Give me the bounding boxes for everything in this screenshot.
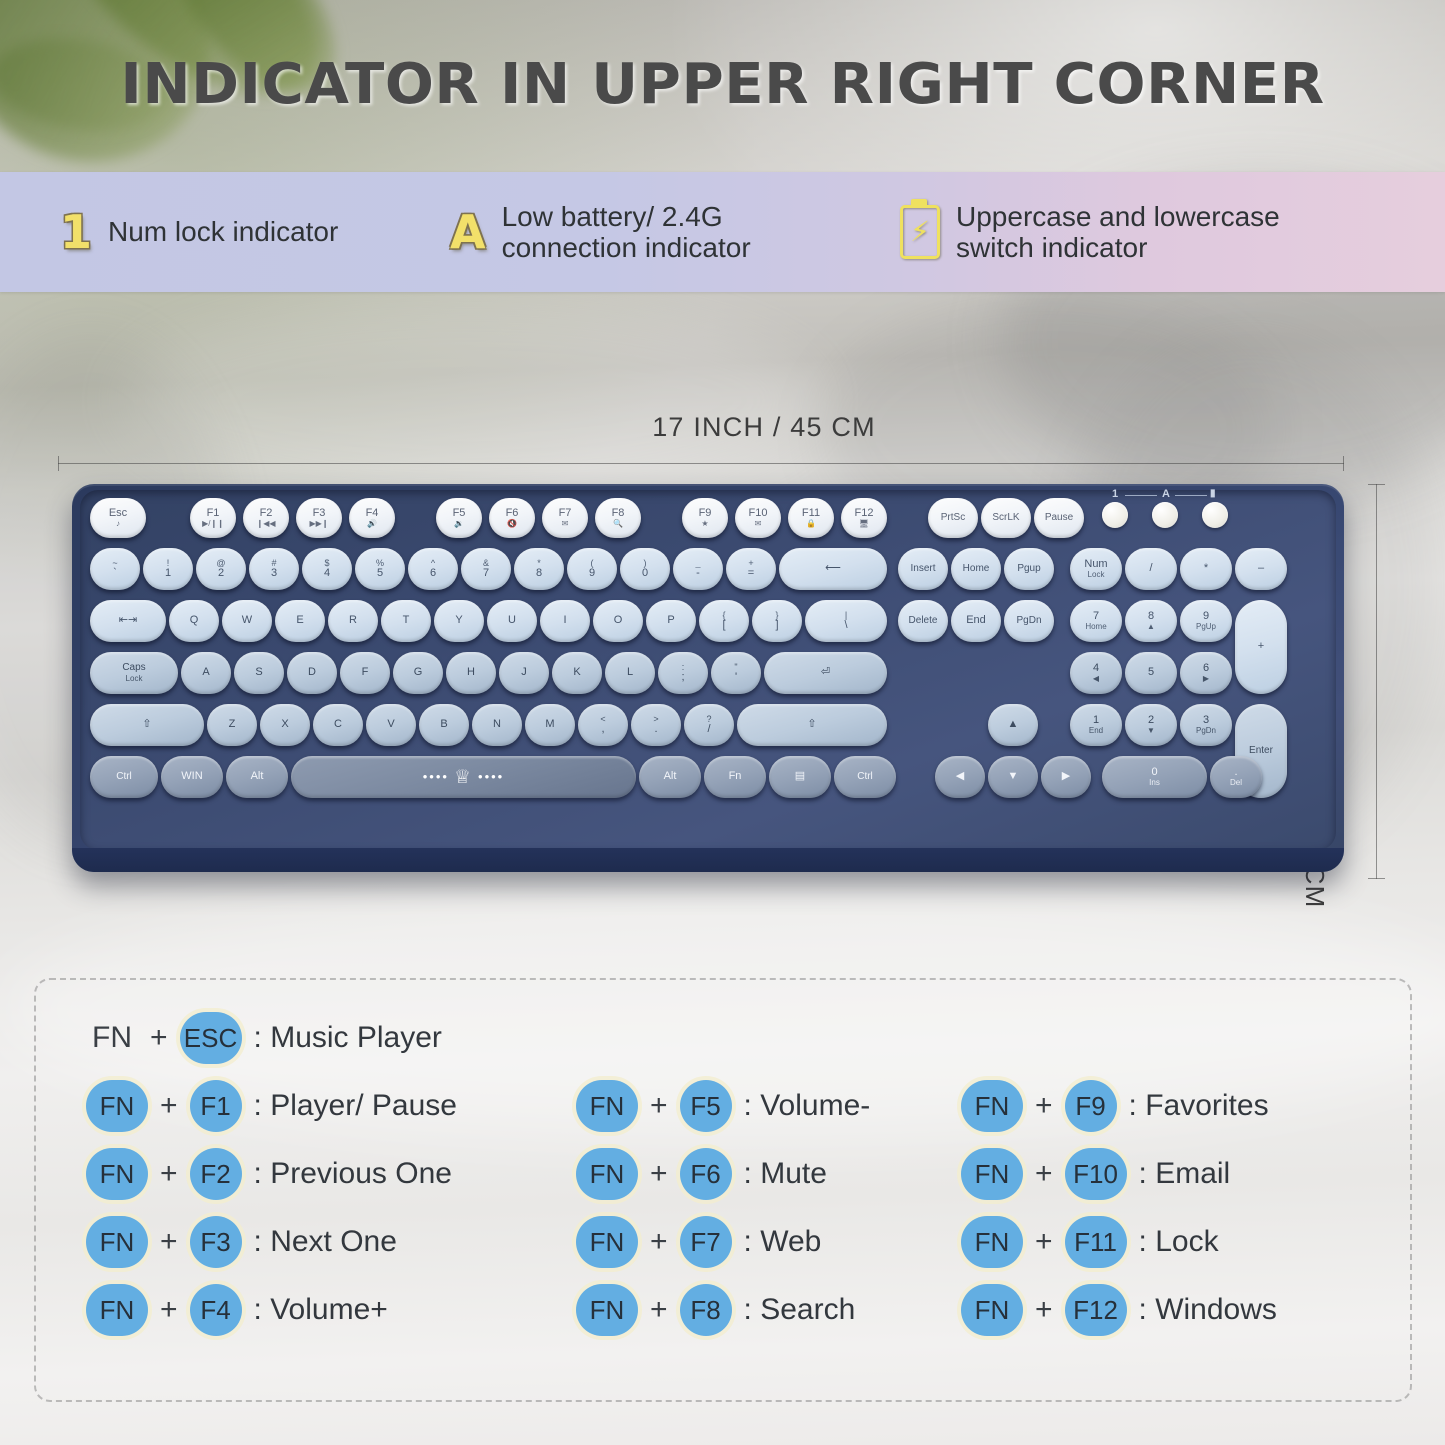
key-legend-primary: M	[545, 719, 554, 731]
key-legend-primary: 6	[430, 568, 436, 580]
key-qwerty-r-4[interactable]: R	[328, 600, 378, 642]
key-function-f11-11[interactable]: F11🔒	[788, 498, 834, 538]
width-dimension-line	[58, 463, 1344, 464]
key-shift-c-3[interactable]: C	[313, 704, 363, 746]
key-legend-secondary: |	[845, 611, 847, 620]
key-bottom-key-12[interactable]: .Del	[1210, 756, 1262, 798]
key-function-pause-15[interactable]: Pause	[1034, 498, 1084, 538]
key-shift-key-10[interactable]: ?/	[684, 704, 734, 746]
shortcut-modifier-badge: FN	[86, 1284, 148, 1336]
shortcut-description: : Next One	[254, 1225, 397, 1259]
key-bottom-alt-2[interactable]: Alt	[226, 756, 288, 798]
shortcut-description: : Lock	[1139, 1225, 1219, 1259]
fn-shortcuts-panel: FN+ESC: Music PlayerFN+F1: Player/ Pause…	[34, 978, 1412, 1402]
shortcut-row-f8: FN+F8: Search	[576, 1284, 855, 1336]
key-qwerty-8-18[interactable]: 8▲	[1125, 600, 1177, 642]
legend-text-battery: Low battery/ 2.4G connection indicator	[502, 201, 751, 264]
key-legend-primary: W	[242, 615, 252, 627]
key-qwerty-p-10[interactable]: P	[646, 600, 696, 642]
key-legend-primary: PgDn	[1016, 616, 1041, 627]
key-legend-primary: 1	[1093, 715, 1099, 727]
key-legend-primary: Ctrl	[857, 772, 873, 783]
battery-bolt-icon: ⚡	[900, 205, 940, 259]
key-function-scrlk-14[interactable]: ScrLK	[981, 498, 1031, 538]
key-function-f4-4[interactable]: F4🔊	[349, 498, 395, 538]
key-number-pgup-16[interactable]: Pgup	[1004, 548, 1054, 590]
key-number-key-11[interactable]: _-	[673, 548, 723, 590]
key-legend-primary: 9	[589, 568, 595, 580]
legend-item-case: ⚡ Uppercase and lowercase switch indicat…	[900, 201, 1280, 264]
key-qwerty-key-11[interactable]: {[	[699, 600, 749, 642]
key-legend-sub: PgDn	[1196, 727, 1216, 735]
shortcut-modifier-badge: FN	[86, 1021, 138, 1055]
key-qwerty-e-3[interactable]: E	[275, 600, 325, 642]
key-legend-primary: End	[966, 615, 986, 627]
key-legend-primary: 8	[1148, 611, 1154, 623]
key-legend-sub: ▲	[1147, 623, 1155, 631]
key-home-caps-0[interactable]: CapsLock	[90, 652, 178, 694]
shortcut-key-badge: F1	[190, 1080, 242, 1132]
key-function-esc-0[interactable]: Esc♪	[90, 498, 146, 538]
key-legend-primary: '	[735, 672, 737, 684]
key-bottom-ctrl-0[interactable]: Ctrl	[90, 756, 158, 798]
key-bottom-ctrl-7[interactable]: Ctrl	[834, 756, 896, 798]
key-home-j-7[interactable]: J	[499, 652, 549, 694]
key-qwerty-key-13[interactable]: |\	[805, 600, 887, 642]
keyboard-product-image: Esc♪F1▶/❙❙F2❙◀◀F3▶▶❙F4🔊F5🔉F6🔇F7✉F8🔍F9★F1…	[72, 484, 1344, 872]
key-home-key-12[interactable]: ⏎	[764, 652, 887, 694]
key-legend-sub: Del	[1230, 779, 1242, 787]
legend-text-numlock: Num lock indicator	[108, 216, 338, 247]
shortcut-modifier-badge: FN	[961, 1216, 1023, 1268]
key-legend-primary: `	[113, 568, 117, 580]
key-legend-secondary: >	[653, 715, 658, 724]
key-shift-z-1[interactable]: Z	[207, 704, 257, 746]
key-legend-secondary: (	[591, 559, 594, 568]
shortcut-description: : Previous One	[254, 1157, 452, 1191]
key-qwerty-u-7[interactable]: U	[487, 600, 537, 642]
key-legend-primary: B	[440, 719, 447, 731]
key-home-key-10[interactable]: :;	[658, 652, 708, 694]
key-bottom-key-9[interactable]: ▼	[988, 756, 1038, 798]
key-shift-key-9[interactable]: >.	[631, 704, 681, 746]
key-legend-primary: Alt	[664, 771, 677, 783]
key-function-f7-7[interactable]: F7✉	[542, 498, 588, 538]
key-legend-primary: ▤	[795, 771, 805, 783]
key-legend-primary: 5	[1148, 667, 1154, 679]
shortcut-row-f2: FN+F2: Previous One	[86, 1148, 452, 1200]
key-legend-primary: L	[627, 667, 633, 679]
shortcut-key-badge: F3	[190, 1216, 242, 1268]
key-legend-primary: H	[467, 667, 475, 679]
key-legend-primary: ;	[681, 672, 684, 684]
keyboard-base-lip	[72, 848, 1344, 872]
key-legend-primary: *	[1204, 563, 1208, 575]
key-number-key-20[interactable]: –	[1235, 548, 1287, 590]
key-legend-primary: 4	[1093, 663, 1099, 675]
key-legend-primary: 9	[1203, 611, 1209, 623]
key-legend-primary: Pgup	[1017, 564, 1040, 575]
key-function-f5-5[interactable]: F5🔉	[436, 498, 482, 538]
key-legend-sub: ▶/❙❙	[202, 520, 224, 528]
key-legend-primary: ⇤⇥	[119, 615, 137, 627]
key-legend-primary: 2	[218, 568, 224, 580]
key-legend-primary: F10	[749, 508, 768, 520]
key-legend-primary: ▼	[1008, 771, 1019, 783]
key-function-f12-12[interactable]: F12🖥	[841, 498, 887, 538]
key-legend-primary: /	[707, 724, 710, 736]
letter-a-icon: A	[450, 209, 486, 255]
key-legend-primary: K	[573, 667, 580, 679]
shortcut-key-badge: F8	[680, 1284, 732, 1336]
key-function-f2-2[interactable]: F2❙◀◀	[243, 498, 289, 538]
key-legend-primary: +	[1258, 641, 1264, 653]
key-legend-primary: 2	[1148, 715, 1154, 727]
key-shift-key-11[interactable]: ⇧	[737, 704, 887, 746]
key-legend-sub: ★	[701, 520, 708, 528]
key-number-key-19[interactable]: *	[1180, 548, 1232, 590]
key-legend-sub: 🔒	[806, 520, 816, 528]
key-legend-primary: 4	[324, 568, 330, 580]
shortcut-key-badge: F11	[1065, 1216, 1127, 1268]
led-numlock	[1102, 502, 1128, 528]
key-legend-secondary: ^	[431, 559, 435, 568]
shortcut-plus-sign: +	[650, 1157, 668, 1191]
shortcut-row-f9: FN+F9: Favorites	[961, 1080, 1269, 1132]
indicator-legend-band: 1 Num lock indicator A Low battery/ 2.4G…	[0, 172, 1445, 292]
shortcut-description: : Windows	[1139, 1293, 1277, 1327]
key-qwerty-7-17[interactable]: 7Home	[1070, 600, 1122, 642]
key-legend-primary: PrtSc	[941, 513, 965, 524]
legend-battery-line2: connection indicator	[502, 232, 751, 263]
shortcut-modifier-badge: FN	[961, 1148, 1023, 1200]
key-function-prtsc-13[interactable]: PrtSc	[928, 498, 978, 538]
key-home-s-2[interactable]: S	[234, 652, 284, 694]
key-legend-primary: 0	[1151, 767, 1157, 779]
key-home-h-6[interactable]: H	[446, 652, 496, 694]
key-legend-primary: 6	[1203, 663, 1209, 675]
key-legend-secondary: $	[324, 559, 329, 568]
key-shift-b-5[interactable]: B	[419, 704, 469, 746]
key-legend-primary: \	[844, 620, 847, 632]
key-shift-1-13[interactable]: 1End	[1070, 704, 1122, 746]
key-qwerty-o-9[interactable]: O	[593, 600, 643, 642]
key-legend-secondary: ~	[112, 559, 117, 568]
key-number-key-13[interactable]: ⟵	[779, 548, 887, 590]
key-legend-primary: D	[308, 667, 316, 679]
key-number-6-6[interactable]: ^6	[408, 548, 458, 590]
shortcut-description: : Web	[744, 1225, 822, 1259]
key-legend-secondary: @	[216, 559, 225, 568]
shortcut-key-badge: F10	[1065, 1148, 1127, 1200]
key-bottom-win-1[interactable]: WIN	[161, 756, 223, 798]
key-bottom-fn-5[interactable]: Fn	[704, 756, 766, 798]
shortcut-plus-sign: +	[650, 1293, 668, 1327]
shortcut-modifier-badge: FN	[576, 1216, 638, 1268]
key-legend-primary: Y	[455, 615, 462, 627]
key-legend-sub: ▼	[1147, 727, 1155, 735]
legend-case-line1: Uppercase and lowercase	[956, 201, 1280, 232]
key-number-3-3[interactable]: #3	[249, 548, 299, 590]
key-legend-secondary: "	[734, 663, 737, 672]
key-legend-primary: 7	[1093, 611, 1099, 623]
key-qwerty-y-6[interactable]: Y	[434, 600, 484, 642]
key-legend-secondary: )	[644, 559, 647, 568]
key-bottom-alt-4[interactable]: Alt	[639, 756, 701, 798]
key-legend-primary: F8	[612, 508, 625, 520]
shortcut-description: : Search	[744, 1293, 856, 1327]
key-legend-sub: ✉	[755, 520, 762, 528]
key-home-6-15[interactable]: 6▶	[1180, 652, 1232, 694]
key-bottom-key-10[interactable]: ▶	[1041, 756, 1091, 798]
shortcut-plus-sign: +	[150, 1021, 168, 1055]
shortcut-plus-sign: +	[1035, 1157, 1053, 1191]
key-legend-secondary: +	[748, 559, 753, 568]
shortcut-modifier-badge: FN	[86, 1148, 148, 1200]
key-legend-primary: ▲	[1008, 719, 1019, 731]
key-legend-sub: 🖥	[859, 520, 869, 528]
key-number-7-7[interactable]: &7	[461, 548, 511, 590]
key-bottom-key-6[interactable]: ▤	[769, 756, 831, 798]
key-qwerty-pgdn-16[interactable]: PgDn	[1004, 600, 1054, 642]
key-legend-primary: ,	[601, 724, 604, 736]
key-function-f6-6[interactable]: F6🔇	[489, 498, 535, 538]
key-legend-primary: Enter	[1249, 746, 1273, 757]
key-legend-primary: F9	[699, 508, 712, 520]
key-legend-primary: 1	[165, 568, 171, 580]
key-legend-primary: 0	[642, 568, 648, 580]
key-legend-primary: -	[696, 568, 700, 580]
key-legend-primary: .	[654, 724, 657, 736]
key-legend-sub: ▶	[1203, 675, 1209, 683]
key-legend-primary: F1	[207, 508, 220, 520]
key-legend-primary: ◀	[956, 771, 964, 783]
key-legend-sub: ◀	[1093, 675, 1099, 683]
key-legend-primary: =	[748, 568, 754, 580]
key-legend-secondary: %	[376, 559, 384, 568]
key-legend-primary: U	[508, 615, 516, 627]
key-legend-primary: .	[1234, 767, 1237, 779]
key-function-f10-10[interactable]: F10✉	[735, 498, 781, 538]
key-legend-primary: F2	[260, 508, 273, 520]
key-legend-primary: Home	[963, 564, 990, 575]
shortcut-plus-sign: +	[1035, 1089, 1053, 1123]
key-qwerty-i-8[interactable]: I	[540, 600, 590, 642]
width-dimension-label: 17 INCH / 45 CM	[564, 412, 964, 443]
key-legend-sub: 🔉	[454, 520, 464, 528]
key-home-4-13[interactable]: 4◀	[1070, 652, 1122, 694]
key-legend-secondary: :	[682, 663, 685, 672]
key-number-key-12[interactable]: +=	[726, 548, 776, 590]
key-legend-primary: F6	[506, 508, 519, 520]
shortcut-row-f5: FN+F5: Volume-	[576, 1080, 870, 1132]
led-mark-numlock: 1	[1112, 488, 1118, 500]
shortcut-key-badge: F4	[190, 1284, 242, 1336]
key-qwerty-end-15[interactable]: End	[951, 600, 1001, 642]
key-legend-primary: /	[1149, 563, 1152, 575]
numlock-digit-icon: 1	[60, 209, 92, 255]
key-legend-sub: 🔊	[367, 520, 377, 528]
key-legend-primary: G	[414, 667, 423, 679]
led-dash-2	[1175, 495, 1207, 496]
shortcut-modifier-badge: FN	[86, 1216, 148, 1268]
key-qwerty-w-2[interactable]: W	[222, 600, 272, 642]
key-legend-secondary: }	[775, 611, 778, 620]
key-number-insert-14[interactable]: Insert	[898, 548, 948, 590]
key-shift-n-6[interactable]: N	[472, 704, 522, 746]
key-number-2-2[interactable]: @2	[196, 548, 246, 590]
shortcut-plus-sign: +	[160, 1293, 178, 1327]
key-legend-primary: ⇧	[142, 719, 151, 731]
key-legend-primary: ⇧	[807, 719, 816, 731]
key-legend-primary: F4	[366, 508, 379, 520]
key-number-1-1[interactable]: !1	[143, 548, 193, 590]
key-shift-x-2[interactable]: X	[260, 704, 310, 746]
key-number-8-8[interactable]: *8	[514, 548, 564, 590]
shortcut-description: : Player/ Pause	[254, 1089, 457, 1123]
key-home-g-5[interactable]: G	[393, 652, 443, 694]
shortcut-description: : Mute	[744, 1157, 827, 1191]
key-shift-key-12[interactable]: ▲	[988, 704, 1038, 746]
key-legend-primary: A	[202, 667, 209, 679]
shortcut-modifier-badge: FN	[576, 1284, 638, 1336]
key-legend-sub: ✉	[562, 520, 569, 528]
legend-battery-line1: Low battery/ 2.4G	[502, 201, 723, 232]
shortcut-description: : Favorites	[1129, 1089, 1269, 1123]
shortcut-modifier-badge: FN	[576, 1080, 638, 1132]
key-home-l-9[interactable]: L	[605, 652, 655, 694]
key-legend-primary: –	[1258, 563, 1264, 575]
key-home-f-4[interactable]: F	[340, 652, 390, 694]
key-legend-primary: Ctrl	[116, 772, 132, 783]
key-legend-primary: Num	[1084, 559, 1107, 571]
key-legend-secondary: #	[271, 559, 276, 568]
key-shift-2-14[interactable]: 2▼	[1125, 704, 1177, 746]
key-legend-primary: 5	[377, 568, 383, 580]
led-dash-1	[1125, 495, 1157, 496]
key-legend-primary: ScrLK	[992, 513, 1019, 524]
key-qwerty-delete-14[interactable]: Delete	[898, 600, 948, 642]
shortcut-row-f7: FN+F7: Web	[576, 1216, 821, 1268]
shortcut-modifier-badge: FN	[961, 1080, 1023, 1132]
key-shift-m-7[interactable]: M	[525, 704, 575, 746]
key-legend-primary: Z	[229, 719, 236, 731]
key-spacebar[interactable]: ••••♕••••	[291, 756, 636, 798]
key-qwerty-q-1[interactable]: Q	[169, 600, 219, 642]
key-shift-3-15[interactable]: 3PgDn	[1180, 704, 1232, 746]
shortcut-key-badge: F9	[1065, 1080, 1117, 1132]
key-function-f1-1[interactable]: F1▶/❙❙	[190, 498, 236, 538]
key-bottom-key-8[interactable]: ◀	[935, 756, 985, 798]
shortcut-key-badge: F6	[680, 1148, 732, 1200]
key-legend-primary: F3	[313, 508, 326, 520]
key-home-d-3[interactable]: D	[287, 652, 337, 694]
key-legend-primary: Alt	[251, 771, 264, 783]
shortcut-row-f11: FN+F11: Lock	[961, 1216, 1219, 1268]
led-capslock	[1152, 502, 1178, 528]
key-legend-secondary: &	[483, 559, 489, 568]
shortcut-row-f3: FN+F3: Next One	[86, 1216, 397, 1268]
key-qwerty-key-12[interactable]: }]	[752, 600, 802, 642]
led-mark-battery-icon: ▮	[1210, 488, 1216, 499]
key-number-home-15[interactable]: Home	[951, 548, 1001, 590]
shortcut-plus-sign: +	[650, 1089, 668, 1123]
key-legend-secondary: <	[600, 715, 605, 724]
key-legend-sub: Ins	[1149, 779, 1160, 787]
key-legend-primary: R	[349, 615, 357, 627]
shortcut-description: : Volume+	[254, 1293, 388, 1327]
legend-item-battery: A Low battery/ 2.4G connection indicator	[450, 201, 890, 264]
key-legend-primary: Delete	[909, 616, 938, 627]
key-legend-sub: 🔍	[613, 520, 623, 528]
key-legend-primary: F5	[453, 508, 466, 520]
key-legend-sub: ♪	[116, 520, 120, 528]
key-qwerty-t-5[interactable]: T	[381, 600, 431, 642]
key-legend-primary: V	[387, 719, 394, 731]
keyboard-deck: Esc♪F1▶/❙❙F2❙◀◀F3▶▶❙F4🔊F5🔉F6🔇F7✉F8🔍F9★F1…	[80, 490, 1336, 850]
key-shift-key-0[interactable]: ⇧	[90, 704, 204, 746]
key-legend-secondary: ?	[706, 715, 711, 724]
key-shift-key-8[interactable]: <,	[578, 704, 628, 746]
shortcut-plus-sign: +	[160, 1089, 178, 1123]
shortcut-plus-sign: +	[1035, 1225, 1053, 1259]
key-number-5-5[interactable]: %5	[355, 548, 405, 590]
height-dimension-line	[1376, 484, 1377, 879]
key-bottom-0-11[interactable]: 0Ins	[1102, 756, 1207, 798]
shortcut-modifier-badge: FN	[86, 1080, 148, 1132]
key-function-f8-8[interactable]: F8🔍	[595, 498, 641, 538]
key-legend-primary: P	[667, 615, 674, 627]
key-legend-primary: C	[334, 719, 342, 731]
key-home-key-11[interactable]: "'	[711, 652, 761, 694]
key-number-0-10[interactable]: )0	[620, 548, 670, 590]
key-legend-primary: F7	[559, 508, 572, 520]
key-number-4-4[interactable]: $4	[302, 548, 352, 590]
key-qwerty-key-20[interactable]: +	[1235, 600, 1287, 694]
led-battery	[1202, 502, 1228, 528]
key-shift-v-4[interactable]: V	[366, 704, 416, 746]
key-number-key-18[interactable]: /	[1125, 548, 1177, 590]
key-legend-primary: Fn	[729, 771, 742, 783]
key-legend-primary: [	[722, 620, 725, 632]
key-legend-primary: X	[281, 719, 288, 731]
shortcut-description: : Volume-	[744, 1089, 871, 1123]
legend-item-numlock: 1 Num lock indicator	[60, 209, 440, 255]
legend-case-line2: switch indicator	[956, 232, 1147, 263]
key-function-f3-3[interactable]: F3▶▶❙	[296, 498, 342, 538]
key-qwerty-key-0[interactable]: ⇤⇥	[90, 600, 166, 642]
shortcut-row-f4: FN+F4: Volume+	[86, 1284, 388, 1336]
key-home-a-1[interactable]: A	[181, 652, 231, 694]
key-legend-primary: F	[362, 667, 369, 679]
led-mark-capslock: A	[1162, 488, 1170, 500]
page-title: INDICATOR IN UPPER RIGHT CORNER	[0, 52, 1445, 117]
key-legend-primary: E	[296, 615, 303, 627]
key-number-key-0[interactable]: ~`	[90, 548, 140, 590]
key-legend-secondary: !	[167, 559, 170, 568]
key-legend-primary: O	[614, 615, 623, 627]
key-function-f9-9[interactable]: F9★	[682, 498, 728, 538]
key-home-5-14[interactable]: 5	[1125, 652, 1177, 694]
key-number-9-9[interactable]: (9	[567, 548, 617, 590]
key-qwerty-9-19[interactable]: 9PgUp	[1180, 600, 1232, 642]
key-legend-sub: Home	[1085, 623, 1106, 631]
key-legend-primary: 8	[536, 568, 542, 580]
key-number-num-17[interactable]: NumLock	[1070, 548, 1122, 590]
key-legend-primary: Esc	[109, 508, 127, 520]
key-home-k-8[interactable]: K	[552, 652, 602, 694]
shortcut-key-badge: F5	[680, 1080, 732, 1132]
